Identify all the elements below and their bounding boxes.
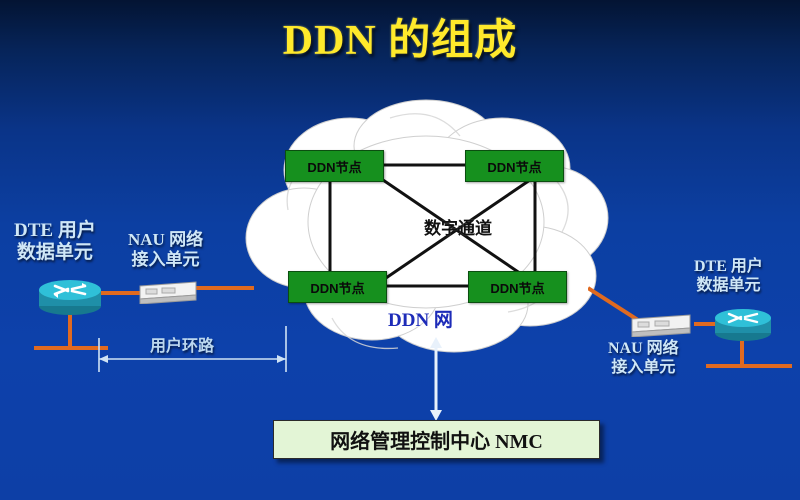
digital-channel-label: 数字通道 <box>424 214 492 239</box>
right-lan-bus-wire <box>706 364 792 368</box>
nau-label-left-line2: 接入单元 <box>128 250 203 270</box>
router-icon-left[interactable] <box>36 276 104 318</box>
page-title: DDN 的组成 <box>0 6 800 67</box>
dte-label-left-line1: DTE 用户 <box>14 220 96 242</box>
slide-canvas: DDN 的组成 <box>0 0 800 500</box>
left-router-to-nau-wire <box>100 291 140 295</box>
nmc-connector-arrow <box>427 336 445 422</box>
dte-label-right-line2: 数据单元 <box>694 277 763 296</box>
nau-label-right: NAU 网络 接入单元 <box>608 340 679 378</box>
router-icon-right[interactable] <box>712 305 774 345</box>
nau-label-right-line2: 接入单元 <box>608 359 679 378</box>
ddn-node-bottom-left[interactable]: DDN节点 <box>288 271 387 303</box>
dte-label-left-line2: 数据单元 <box>14 242 96 264</box>
ddn-node-top-right[interactable]: DDN节点 <box>465 150 564 182</box>
ddn-node-bottom-right[interactable]: DDN节点 <box>468 271 567 303</box>
ddn-network-label: DDN 网 <box>388 305 453 332</box>
nau-label-left: NAU 网络 接入单元 <box>128 230 203 270</box>
dte-label-left: DTE 用户 数据单元 <box>14 220 96 265</box>
dte-label-right: DTE 用户 数据单元 <box>694 258 763 296</box>
user-loop-label: 用户环路 <box>150 338 214 357</box>
nau-device-icon-right[interactable] <box>628 311 694 337</box>
left-nau-to-cloud-wire <box>196 286 254 290</box>
ddn-node-top-left[interactable]: DDN节点 <box>285 150 384 182</box>
dte-label-right-line1: DTE 用户 <box>694 258 763 277</box>
nau-label-left-line1: NAU 网络 <box>128 230 203 250</box>
nau-device-icon-left[interactable] <box>136 278 200 304</box>
nmc-box[interactable]: 网络管理控制中心 NMC <box>273 420 600 459</box>
nau-label-right-line1: NAU 网络 <box>608 340 679 359</box>
